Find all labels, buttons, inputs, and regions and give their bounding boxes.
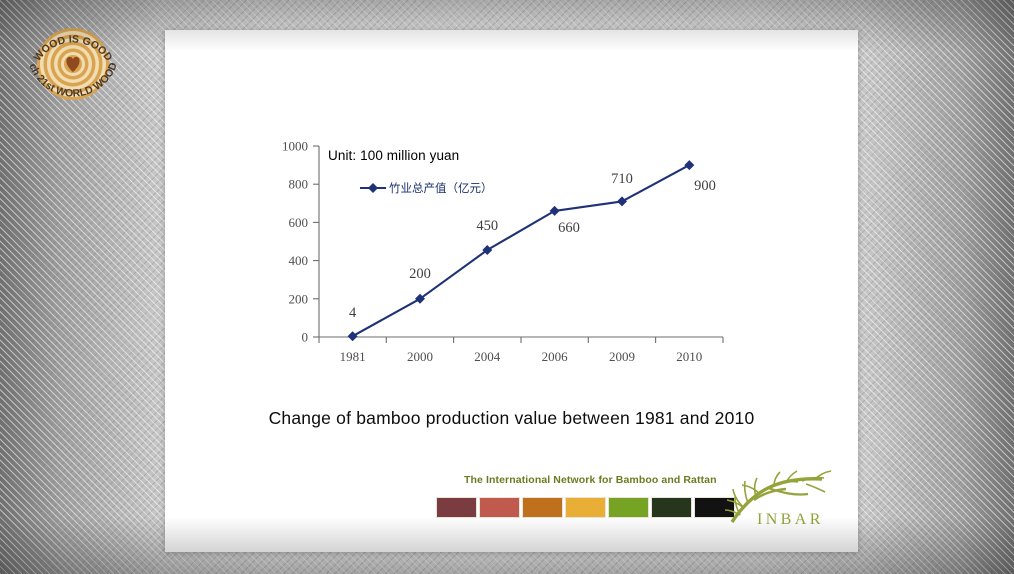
data-label-2006: 660 — [558, 220, 580, 236]
y-tick-200: 200 — [289, 291, 309, 306]
x-label-2006: 2006 — [542, 349, 569, 364]
x-label-2000: 2000 — [407, 349, 433, 364]
chart-plot-svg: 0 200 400 600 800 1000 — [165, 30, 858, 390]
footer-tagline: The International Network for Bamboo and… — [464, 474, 717, 486]
swatch-forest-green — [651, 497, 692, 518]
y-tick-800: 800 — [289, 177, 309, 192]
swatch-orange-brown — [522, 497, 563, 518]
line-chart: Unit: 100 million yuan 0 200 — [165, 30, 858, 390]
y-tick-1000: 1000 — [282, 139, 308, 154]
presentation-slide: Unit: 100 million yuan 0 200 — [165, 30, 858, 552]
y-tick-600: 600 — [289, 215, 309, 230]
inbar-wordmark: INBAR — [757, 511, 824, 528]
swatch-golden — [565, 497, 606, 518]
data-label-2009: 710 — [611, 171, 633, 187]
x-axis-ticks — [319, 337, 723, 343]
inbar-logo-svg: INBAR — [724, 470, 832, 532]
data-label-2010: 900 — [694, 178, 716, 194]
slide-footer: The International Network for Bamboo and… — [165, 470, 858, 540]
y-tick-0: 0 — [302, 330, 309, 345]
swatch-terracotta — [479, 497, 520, 518]
slide-caption: Change of bamboo production value betwee… — [165, 408, 858, 429]
slide-viewer: · WOOD IS GOOD · · March 21st WORLD WOOD… — [0, 0, 1014, 574]
data-label-2000: 200 — [409, 266, 431, 282]
marker-2009 — [617, 196, 627, 206]
inbar-logo: INBAR — [724, 470, 832, 532]
legend-marker-icon — [360, 181, 386, 195]
x-label-2004: 2004 — [474, 349, 501, 364]
marker-2010 — [684, 160, 694, 170]
swatch-maroon — [436, 497, 477, 518]
chart-legend: 竹业总产值（亿元） — [360, 180, 493, 196]
x-label-2009: 2009 — [609, 349, 635, 364]
marker-1981 — [348, 331, 358, 341]
x-axis-category-labels: 1981 2000 2004 2006 2009 2010 — [340, 349, 703, 364]
data-label-2004: 450 — [476, 218, 498, 234]
data-label-1981: 4 — [349, 305, 357, 321]
world-wood-day-logo-svg: · WOOD IS GOOD · · March 21st WORLD WOOD… — [13, 8, 133, 118]
marker-2006 — [550, 206, 560, 216]
swatch-olive-green — [608, 497, 649, 518]
legend-label-series-1: 竹业总产值（亿元） — [389, 180, 493, 196]
y-axis-tick-labels: 0 200 400 600 800 1000 — [282, 139, 308, 345]
y-tick-400: 400 — [289, 253, 309, 268]
x-label-1981: 1981 — [340, 349, 366, 364]
footer-color-swatch-strip — [436, 497, 735, 518]
x-label-2010: 2010 — [676, 349, 702, 364]
world-wood-day-logo: · WOOD IS GOOD · · March 21st WORLD WOOD… — [13, 8, 133, 118]
y-axis-ticks — [313, 146, 319, 337]
